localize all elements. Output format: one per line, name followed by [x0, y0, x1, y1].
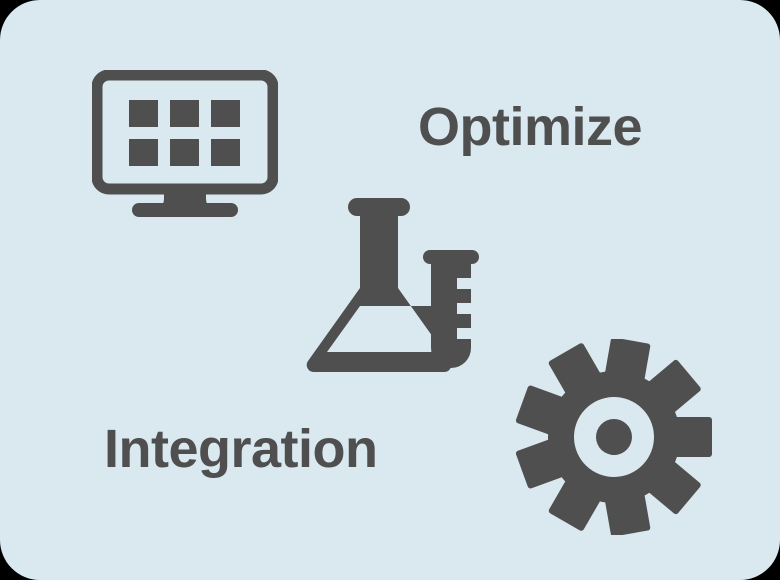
monitor-grid-icon: [92, 70, 278, 222]
label-integration: Integration: [104, 422, 378, 476]
flask-test-tube-icon: [300, 190, 486, 380]
infographic-card: Optimize Integration: [0, 0, 780, 580]
label-optimize: Optimize: [418, 100, 642, 154]
gear-icon: [516, 339, 712, 535]
